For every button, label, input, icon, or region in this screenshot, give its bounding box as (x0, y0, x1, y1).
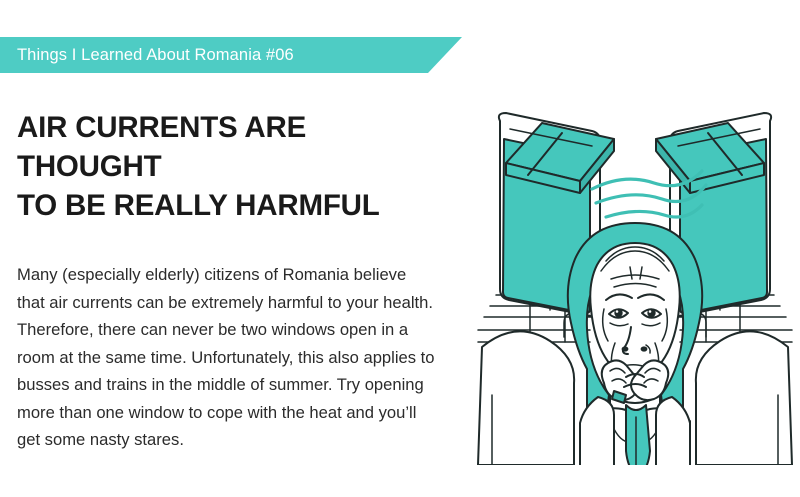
text-column: AIR CURRENTS ARE THOUGHT TO BE REALLY HA… (17, 108, 437, 454)
page-title: AIR CURRENTS ARE THOUGHT TO BE REALLY HA… (17, 108, 437, 225)
infographic-page: Things I Learned About Romania #06 AIR C… (0, 0, 800, 497)
body-paragraph: Many (especially elderly) citizens of Ro… (17, 261, 437, 454)
illustration: .ln { fill:none; stroke:#1f2a2a; stroke-… (470, 95, 800, 465)
banner: Things I Learned About Romania #06 (0, 37, 462, 73)
banner-title: Things I Learned About Romania #06 (17, 37, 294, 73)
illustration-svg: .ln { fill:none; stroke:#1f2a2a; stroke-… (470, 95, 800, 465)
woman-figure (568, 223, 702, 465)
